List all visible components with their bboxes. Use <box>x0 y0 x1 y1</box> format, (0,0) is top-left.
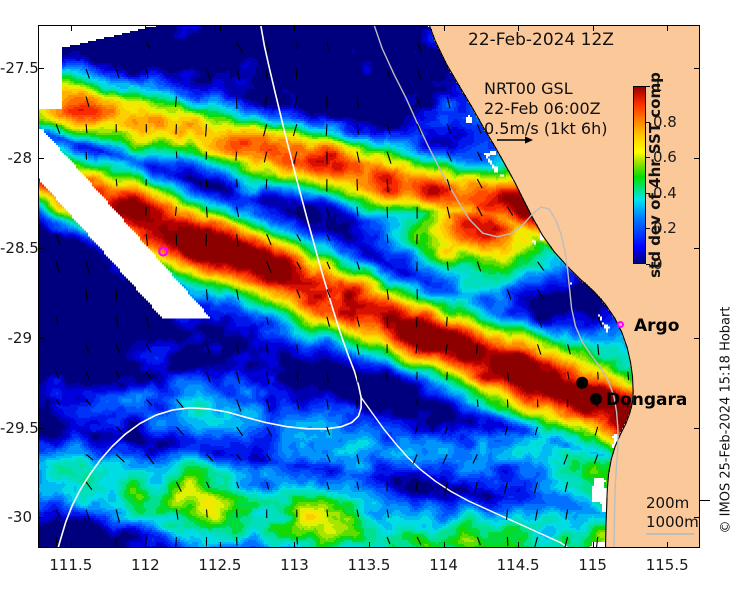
y-tick <box>38 158 44 159</box>
dongara-label: Dongara <box>606 390 687 410</box>
argo-marker-icon <box>617 321 624 328</box>
y-tick-label: -28 <box>0 149 32 167</box>
y-tick <box>694 428 700 429</box>
y-tick-label: -29.5 <box>0 419 32 437</box>
x-tick-label: 112.5 <box>198 556 241 574</box>
y-tick <box>694 338 700 339</box>
figure-canvas: 22-Feb-2024 12Z NRT00 GSL 22-Feb 06:00Z … <box>0 0 740 592</box>
dongara-marker-icon <box>590 393 602 405</box>
y-tick <box>694 158 700 159</box>
reference-arrow-icon <box>497 134 533 146</box>
y-tick <box>38 338 44 339</box>
y-tick-label: -29 <box>0 329 32 347</box>
x-tick-label: 115.5 <box>646 556 689 574</box>
depth-200-label: 200m <box>646 494 699 513</box>
y-tick-label: -28.5 <box>0 239 32 257</box>
x-tick-label: 113.5 <box>348 556 391 574</box>
x-tick-label: 115 <box>578 556 607 574</box>
colorbar-gradient <box>633 86 646 264</box>
x-tick <box>518 25 519 31</box>
y-tick <box>38 517 44 518</box>
x-tick <box>518 542 519 548</box>
depth-contour-legend: 200m 1000m <box>646 494 699 532</box>
y-tick <box>694 68 700 69</box>
depth-200-line-swatch <box>700 500 710 501</box>
x-tick-label: 113 <box>280 556 309 574</box>
x-tick <box>220 25 221 31</box>
y-tick <box>694 248 700 249</box>
x-tick <box>71 542 72 548</box>
y-tick-label: -30 <box>0 508 32 526</box>
y-tick <box>38 68 44 69</box>
depth-1000-line-swatch <box>646 533 694 535</box>
argo-float-marker <box>159 248 167 256</box>
y-tick <box>38 428 44 429</box>
product-info-block: NRT00 GSL 22-Feb 06:00Z 0.5m/s (1kt 6h) <box>484 79 607 139</box>
x-tick <box>444 25 445 31</box>
dongara-station-marker <box>576 377 588 389</box>
y-tick <box>38 248 44 249</box>
argo-label: Argo <box>634 316 679 336</box>
x-tick <box>369 542 370 548</box>
y-tick <box>694 517 700 518</box>
product-line-0: NRT00 GSL <box>484 79 607 99</box>
x-tick <box>593 25 594 31</box>
copyright-label: © IMOS 25-Feb-2024 15:18 Hobart <box>719 307 734 534</box>
x-tick <box>369 25 370 31</box>
y-tick-label: -27.5 <box>0 59 32 77</box>
depth-1000-label: 1000m <box>646 513 699 532</box>
x-tick <box>593 542 594 548</box>
x-tick <box>71 25 72 31</box>
x-tick <box>667 25 668 31</box>
x-tick <box>145 542 146 548</box>
x-tick <box>220 542 221 548</box>
x-tick <box>667 542 668 548</box>
product-line-1: 22-Feb 06:00Z <box>484 99 607 119</box>
x-tick <box>145 25 146 31</box>
x-tick-label: 114.5 <box>497 556 540 574</box>
date-stamp-label: 22-Feb-2024 12Z <box>468 30 614 50</box>
x-tick <box>294 25 295 31</box>
x-tick <box>294 542 295 548</box>
x-tick <box>444 542 445 548</box>
x-tick-label: 111.5 <box>49 556 92 574</box>
x-tick-label: 114 <box>429 556 458 574</box>
colorbar-title: std dev of 4hr SST comp <box>646 72 664 278</box>
x-tick-label: 112 <box>131 556 160 574</box>
colorbar <box>633 86 646 264</box>
